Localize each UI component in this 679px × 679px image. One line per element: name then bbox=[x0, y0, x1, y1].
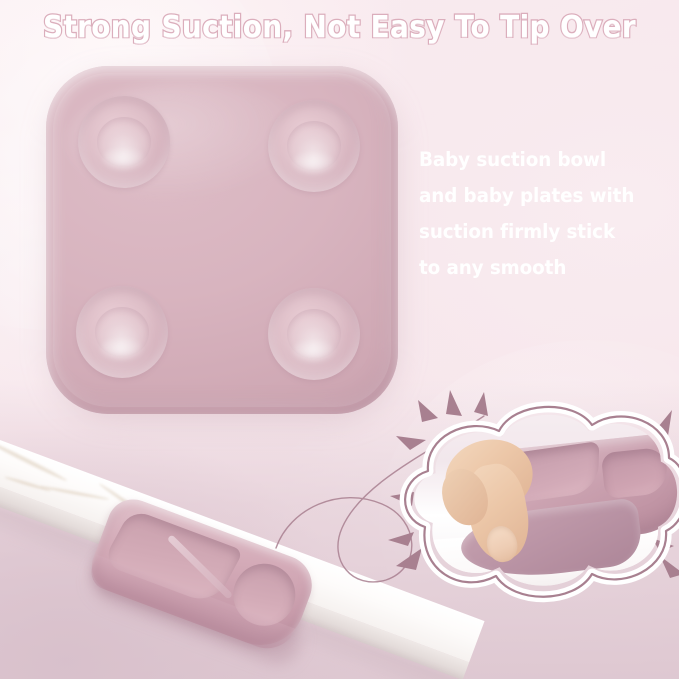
suction-cup-gloss bbox=[292, 150, 338, 176]
body-copy-line: Baby suction bowl bbox=[419, 142, 656, 178]
cloud-callout bbox=[405, 404, 679, 596]
product-marketing-image: Strong Suction, Not Easy To Tip Over Bab… bbox=[0, 0, 679, 679]
body-copy-line: to any smooth bbox=[419, 250, 656, 286]
body-copy: Baby suction bowl and baby plates with s… bbox=[419, 142, 656, 286]
suction-cup-bottom-left bbox=[76, 286, 168, 378]
body-copy-line: suction firmly stick bbox=[419, 214, 656, 250]
hand-lifting-plate bbox=[443, 434, 557, 566]
cloud-photo-mask bbox=[405, 404, 679, 596]
suction-cup-top-right bbox=[268, 100, 360, 192]
suction-cup-bottom-right bbox=[268, 288, 360, 380]
suction-cup-gloss bbox=[100, 336, 146, 362]
suction-cup-gloss bbox=[102, 146, 148, 172]
page-title: Strong Suction, Not Easy To Tip Over bbox=[24, 10, 655, 45]
hero-product-suction-mat bbox=[46, 66, 398, 414]
suction-cup-top-left bbox=[78, 96, 170, 188]
suction-cup-gloss bbox=[292, 338, 338, 364]
body-copy-line: and baby plates with bbox=[419, 178, 656, 214]
